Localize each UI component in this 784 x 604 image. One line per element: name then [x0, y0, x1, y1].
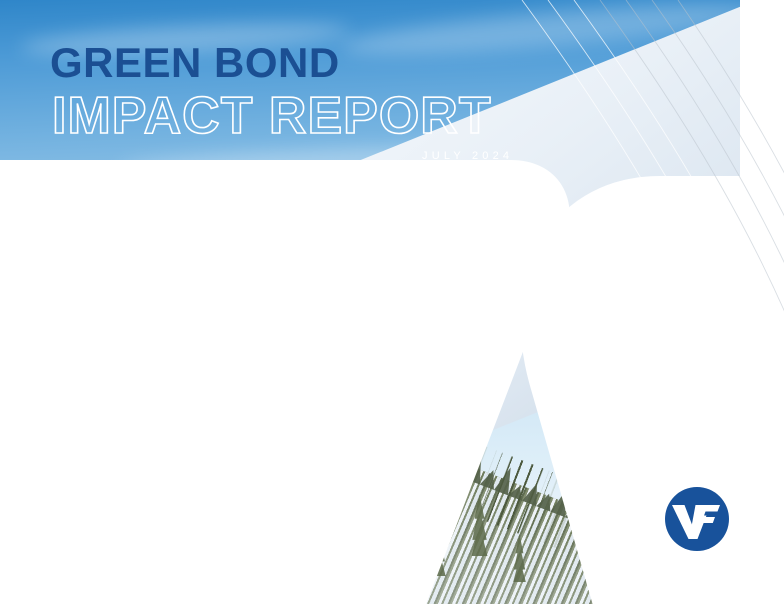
- vf-logo: [665, 487, 729, 551]
- v-shape-right-fill: [740, 0, 784, 604]
- report-cover-page: GREEN BOND IMPACT REPORT JULY 2024: [0, 0, 784, 604]
